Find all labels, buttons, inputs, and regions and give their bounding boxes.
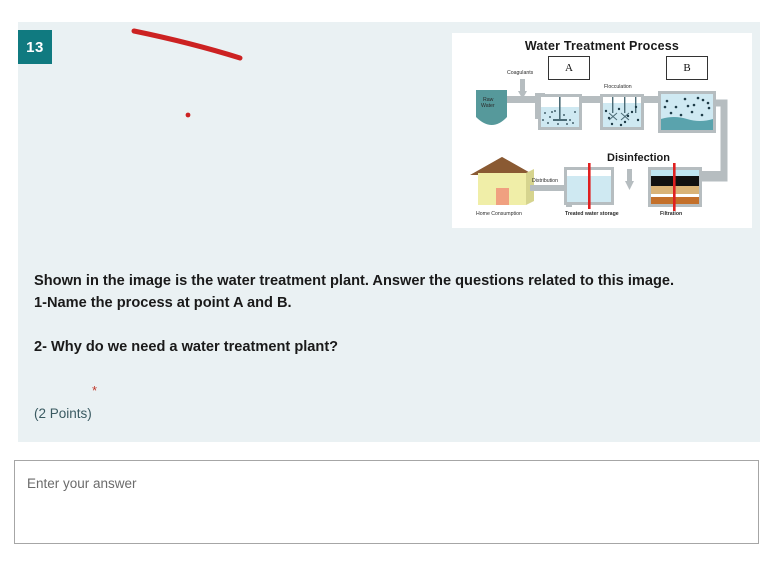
quiz-page: 13 Water Treatment Process bbox=[0, 0, 779, 588]
diagram-box-a: A bbox=[548, 56, 590, 80]
label-disinfection: Disinfection bbox=[607, 152, 670, 164]
question-item-1: 1-Name the process at point A and B. bbox=[34, 292, 734, 314]
label-coagulants: Coagulants bbox=[507, 70, 533, 76]
label-flocculation: Flocculation bbox=[604, 84, 632, 90]
required-asterisk: * bbox=[92, 384, 97, 397]
question-number-badge: 13 bbox=[18, 30, 52, 64]
question-text-block: Shown in the image is the water treatmen… bbox=[34, 270, 734, 358]
label-raw-water-line2: Water bbox=[481, 103, 495, 109]
label-treated-water-storage: Treated water storage bbox=[565, 211, 619, 217]
label-filtration: Filtration bbox=[660, 211, 682, 217]
points-label: (2 Points) bbox=[34, 406, 92, 421]
diagram-box-b-label: B bbox=[683, 62, 690, 74]
answer-placeholder: Enter your answer bbox=[27, 476, 137, 491]
question-stem: Shown in the image is the water treatmen… bbox=[34, 270, 734, 292]
label-distribution: Distribution bbox=[532, 178, 558, 184]
question-item-2: 2- Why do we need a water treatment plan… bbox=[34, 336, 734, 358]
label-home-consumption: Home Consumption bbox=[476, 211, 522, 217]
answer-input-box[interactable]: Enter your answer bbox=[14, 460, 759, 544]
water-treatment-diagram-image: Water Treatment Process bbox=[452, 33, 752, 228]
diagram-box-a-label: A bbox=[565, 62, 573, 74]
question-card: 13 Water Treatment Process bbox=[18, 22, 760, 442]
diagram-box-b: B bbox=[666, 56, 708, 80]
